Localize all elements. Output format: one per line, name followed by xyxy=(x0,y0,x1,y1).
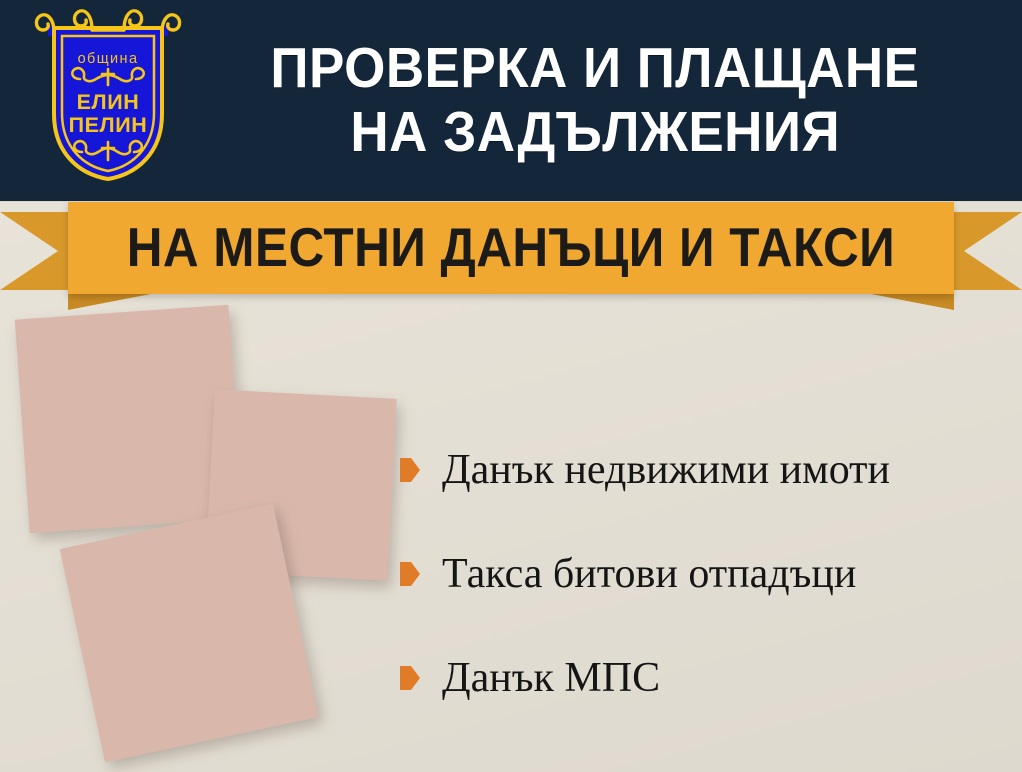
page-title: ПРОВЕРКА И ПЛАЩАНЕ НА ЗАДЪЛЖЕНИЯ xyxy=(185,18,1005,184)
arrow-bullet-icon xyxy=(400,458,420,482)
tax-type-list: Данък недвижими имоти Такса битови отпад… xyxy=(400,418,1010,730)
title-line-2: НА ЗАДЪЛЖЕНИЯ xyxy=(350,101,840,165)
stamp-perforated-border xyxy=(60,504,319,763)
poster-header: община ЕЛИН ПЕЛИН ПРОВЕРКА xyxy=(0,0,1022,201)
list-item[interactable]: Данък недвижими имоти xyxy=(400,418,1010,522)
list-item[interactable]: Такса битови отпадъци xyxy=(400,522,1010,626)
list-item[interactable]: Данък МПС xyxy=(400,626,1010,730)
stamp-car xyxy=(60,504,319,763)
title-line-1: ПРОВЕРКА И ПЛАЩАНЕ xyxy=(270,37,919,101)
coat-of-arms: община ЕЛИН ПЕЛИН xyxy=(34,6,182,186)
svg-text:ПЕЛИН: ПЕЛИН xyxy=(69,113,148,137)
ribbon-label: НА МЕСТНИ ДАНЪЦИ И ТАКСИ xyxy=(127,220,896,275)
arrow-bullet-icon xyxy=(400,666,420,690)
poster-canvas: община ЕЛИН ПЕЛИН ПРОВЕРКА xyxy=(0,0,1022,772)
arrow-bullet-icon xyxy=(400,562,420,586)
list-item-label: Данък недвижими имоти xyxy=(442,449,890,491)
subtitle-ribbon: НА МЕСТНИ ДАНЪЦИ И ТАКСИ xyxy=(0,201,1022,309)
svg-text:ЕЛИН: ЕЛИН xyxy=(77,90,140,114)
ribbon-banner: НА МЕСТНИ ДАНЪЦИ И ТАКСИ xyxy=(68,202,954,294)
list-item-label: Данък МПС xyxy=(442,657,660,699)
list-item-label: Такса битови отпадъци xyxy=(442,553,856,595)
svg-text:община: община xyxy=(78,51,139,67)
